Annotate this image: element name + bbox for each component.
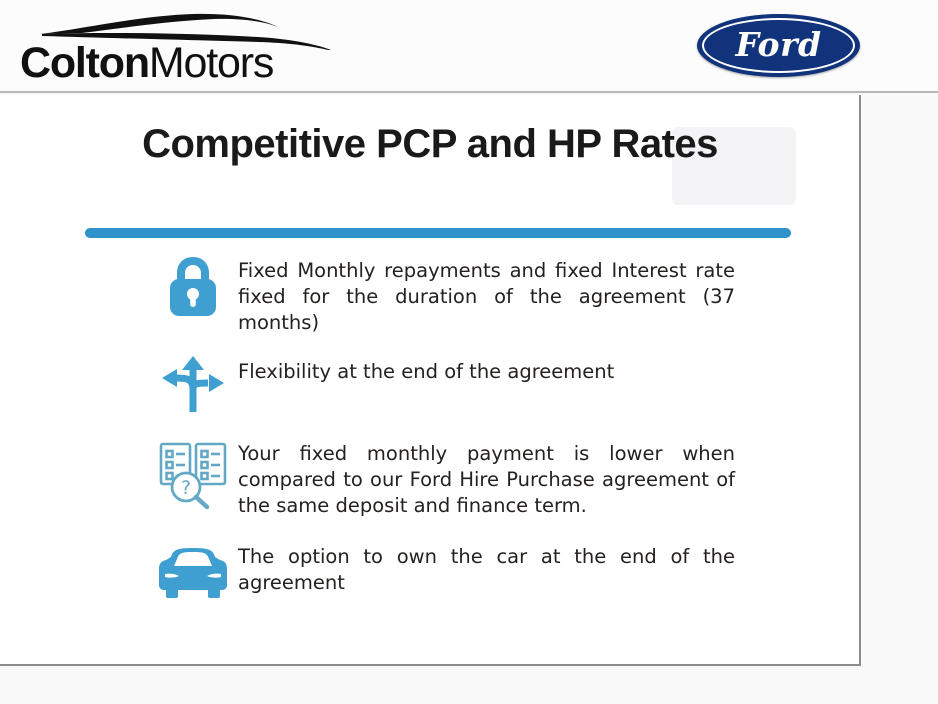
car-front-icon xyxy=(148,541,238,599)
page-header: ColtonMotors Ford xyxy=(0,0,938,93)
feature-text: Flexibility at the end of the agreement xyxy=(238,356,735,385)
brand-name-bold: Colton xyxy=(20,39,149,87)
feature-text: Your fixed monthly payment is lower when… xyxy=(238,438,735,519)
feature-item-fixed-repayments: Fixed Monthly repayments and fixed Inter… xyxy=(0,255,861,336)
slide-card: Competitive PCP and HP Rates Fixed Month… xyxy=(0,95,861,666)
brand-name-light: Motors xyxy=(149,39,273,87)
colton-motors-logo[interactable]: ColtonMotors xyxy=(18,8,348,88)
ford-wordmark: Ford xyxy=(697,22,860,68)
slide-title: Competitive PCP and HP Rates xyxy=(70,119,790,169)
feature-item-own-car-option: The option to own the car at the end of … xyxy=(0,541,861,599)
feature-text: Fixed Monthly repayments and fixed Inter… xyxy=(238,255,735,336)
padlock-icon xyxy=(148,255,238,317)
feature-item-flexibility: Flexibility at the end of the agreement xyxy=(0,356,861,414)
title-divider xyxy=(85,228,791,238)
feature-item-lower-payment: ? Your fixed monthly payment is lower wh… xyxy=(0,438,861,519)
compare-documents-magnifier-icon: ? xyxy=(148,438,238,510)
svg-text:?: ? xyxy=(181,477,191,499)
brand-wordmark: ColtonMotors xyxy=(20,38,350,88)
ford-oval-logo[interactable]: Ford xyxy=(697,14,860,77)
feature-text: The option to own the car at the end of … xyxy=(238,541,735,596)
feature-list: Fixed Monthly repayments and fixed Inter… xyxy=(0,255,861,611)
three-way-arrow-icon xyxy=(148,356,238,414)
